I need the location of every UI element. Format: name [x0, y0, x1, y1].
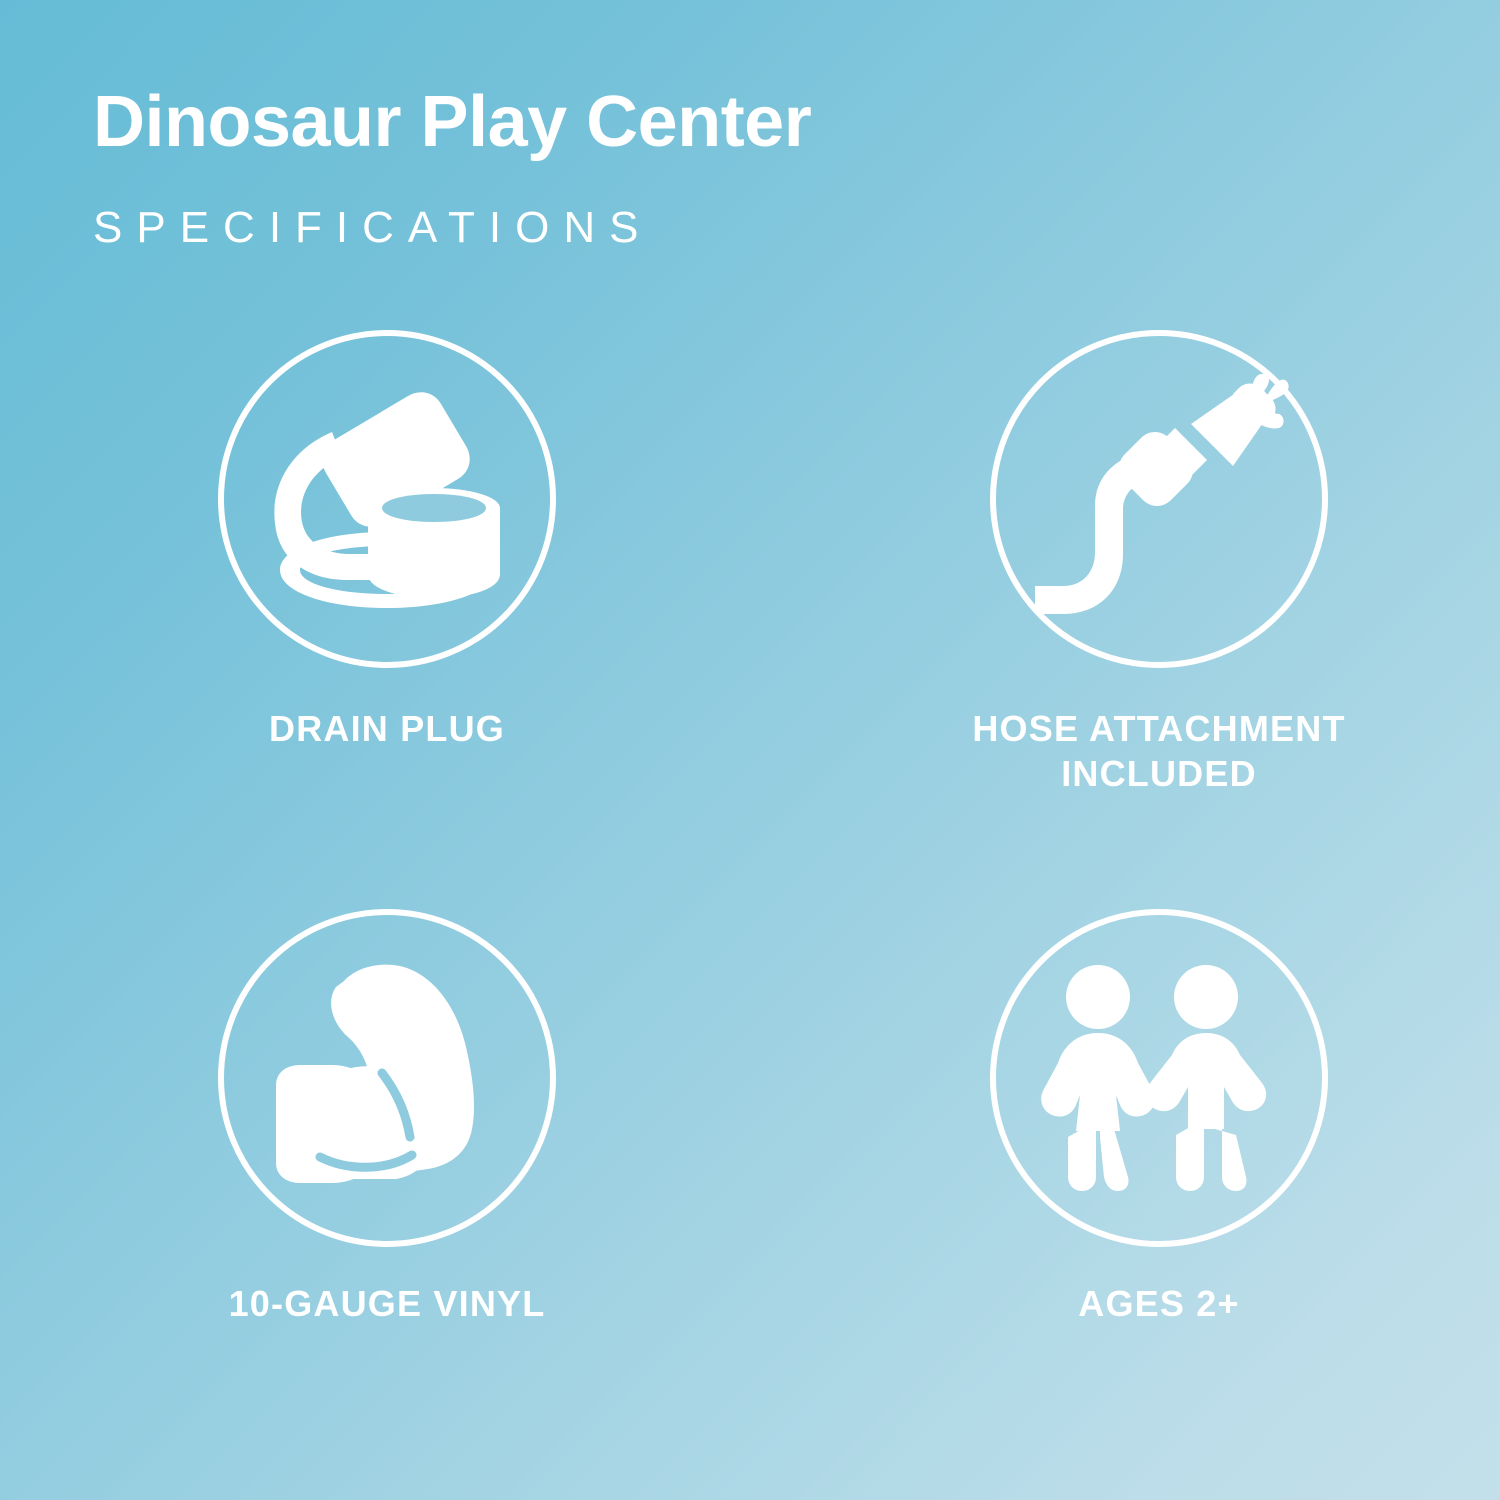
spec-item-vinyl-gauge: 10-GAUGE VINYL [0, 875, 750, 1420]
spec-label: 10-GAUGE VINYL [229, 1281, 546, 1326]
spec-item-drain-plug: DRAIN PLUG [0, 330, 750, 875]
spec-icon-circle [218, 330, 556, 668]
spec-label: AGES 2+ [1078, 1281, 1239, 1326]
two-children-icon [1034, 963, 1284, 1193]
page-title: Dinosaur Play Center [93, 86, 1243, 158]
spec-label: DRAIN PLUG [269, 706, 505, 751]
drain-plug-icon [262, 384, 512, 614]
flexed-bicep-icon [262, 953, 512, 1203]
header: Dinosaur Play Center SPECIFICATIONS [93, 86, 1243, 250]
spec-label: HOSE ATTACHMENT INCLUDED [899, 706, 1419, 796]
spec-icon-circle [218, 909, 556, 1247]
spec-item-age-rating: AGES 2+ [750, 875, 1500, 1420]
hose-nozzle-spray-icon [1029, 374, 1289, 624]
spec-icon-circle [990, 330, 1328, 668]
spec-item-hose-attachment: HOSE ATTACHMENT INCLUDED [750, 330, 1500, 875]
specifications-grid: DRAIN PLUG [0, 330, 1500, 1420]
spec-icon-circle [990, 909, 1328, 1247]
page-subtitle: SPECIFICATIONS [93, 206, 1243, 250]
